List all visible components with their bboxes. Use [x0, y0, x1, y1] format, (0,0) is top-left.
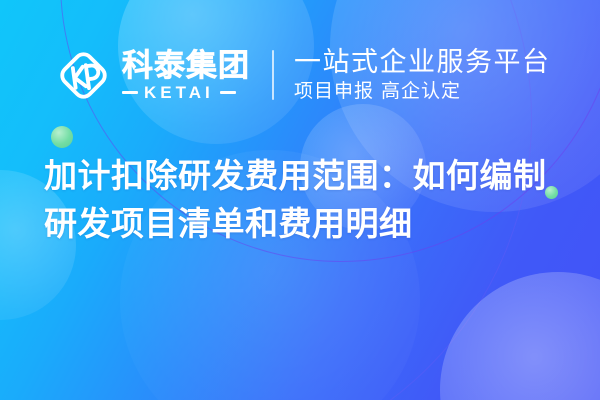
brand-name-en-row: KETAI [122, 84, 250, 102]
rule-left-icon [122, 91, 138, 94]
brand-name-cn: 科泰集团 [122, 48, 250, 84]
tagline-primary: 一站式企业服务平台 [294, 47, 551, 78]
rule-right-icon [220, 91, 236, 94]
brand-logo: 科泰集团 KETAI [56, 48, 250, 103]
header-divider [272, 50, 274, 100]
brand-tagline: 一站式企业服务平台 项目申报 高企认定 [294, 47, 600, 103]
tagline-secondary: 项目申报 高企认定 [294, 80, 461, 102]
soft-circle-bottom-right [440, 272, 600, 400]
brand-name-en: KETAI [144, 84, 214, 102]
ketai-kp-monogram-icon [56, 48, 111, 103]
banner-headline: 加计扣除研发费用范围：如何编制 研发项目清单和费用明细 [44, 152, 564, 248]
brand-wordmark: 科泰集团 KETAI [122, 49, 250, 102]
promo-banner: 科泰集团 KETAI 一站式企业服务平台 项目申报 高企认定 加计扣除研发费用范… [0, 0, 600, 400]
headline-line-2: 研发项目清单和费用明细 [44, 200, 564, 248]
headline-line-1: 加计扣除研发费用范围：如何编制 [44, 152, 564, 200]
banner-header: 科泰集团 KETAI 一站式企业服务平台 项目申报 高企认定 [0, 0, 600, 150]
